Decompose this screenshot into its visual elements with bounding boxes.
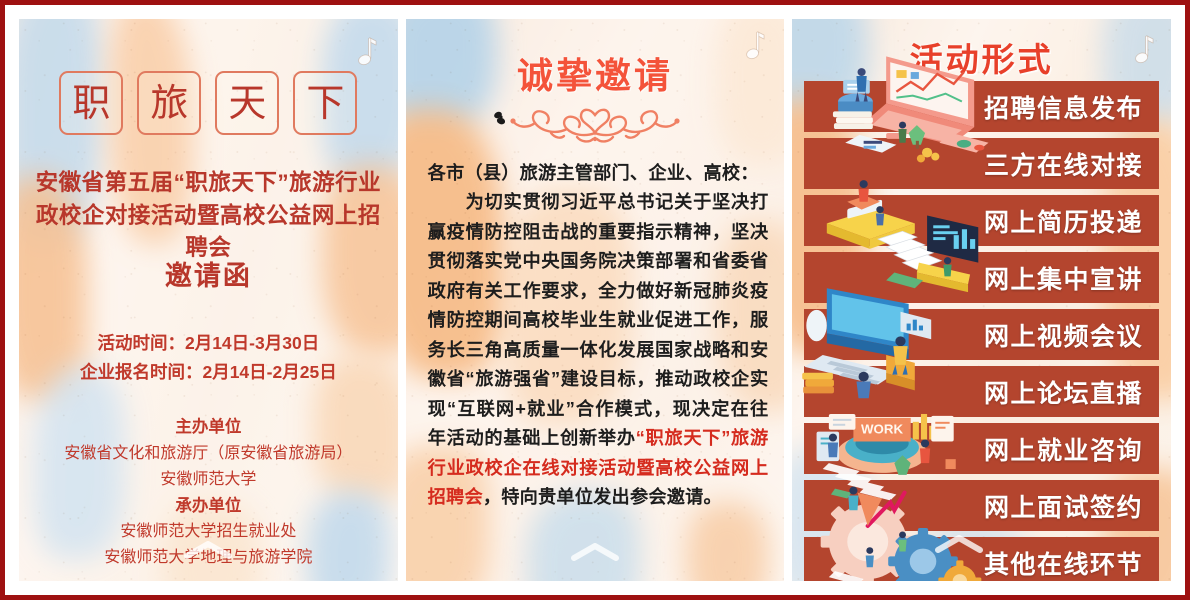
logo-char-3: 天 bbox=[215, 71, 279, 135]
letter-paragraph: 为切实贯彻习近平总书记关于坚决打赢疫情防控阻击战的重要指示精神，坚决贯彻落实党中… bbox=[428, 188, 769, 512]
activity-label-3: 网上简历投递 bbox=[984, 203, 1143, 239]
event-dates: 活动时间：2月14日-3月30日 企业报名时间：2月14日-2月25日 bbox=[19, 329, 398, 387]
music-note-icon bbox=[1129, 33, 1159, 69]
activity-label-5: 网上视频会议 bbox=[984, 317, 1143, 353]
chevron-up-icon[interactable] bbox=[181, 539, 235, 561]
poster-frame: 职 旅 天 下 安徽省第五届“职旅天下”旅游行业 政校企对接活动暨高校公益网上招… bbox=[0, 0, 1190, 600]
activity-label-2: 三方在线对接 bbox=[984, 146, 1143, 182]
list-item[interactable]: 网上就业咨询 bbox=[804, 423, 1159, 474]
list-item[interactable]: 招聘信息发布 bbox=[804, 81, 1159, 132]
list-item[interactable]: 网上简历投递 bbox=[804, 195, 1159, 246]
music-note-icon bbox=[352, 35, 382, 71]
host-item-2: 安徽师范大学 bbox=[19, 467, 398, 493]
chevron-up-icon[interactable] bbox=[568, 541, 622, 563]
section-title: 活动形式 bbox=[792, 33, 1171, 81]
host-heading: 主办单位 bbox=[19, 414, 398, 441]
activity-label-9: 其他在线环节 bbox=[984, 545, 1143, 581]
logo-char-4: 下 bbox=[293, 71, 357, 135]
letter-text-part-1: 为切实贯彻习近平总书记关于坚决打赢疫情防控阻击战的重要指示精神，坚决贯彻落实党中… bbox=[428, 192, 769, 448]
event-title: 安徽省第五届“职旅天下”旅游行业 政校企对接活动暨高校公益网上招聘会 bbox=[27, 167, 390, 265]
list-item[interactable]: 网上集中宣讲 bbox=[804, 252, 1159, 303]
host-item-1: 安徽省文化和旅游厅（原安徽省旅游局） bbox=[19, 441, 398, 467]
panel-invitation-cover[interactable]: 职 旅 天 下 安徽省第五届“职旅天下”旅游行业 政校企对接活动暨高校公益网上招… bbox=[19, 19, 398, 581]
registration-period: 企业报名时间：2月14日-2月25日 bbox=[19, 358, 398, 387]
chevron-up-icon[interactable] bbox=[932, 533, 986, 555]
list-item[interactable]: 三方在线对接 bbox=[804, 138, 1159, 189]
logo-char-1: 职 bbox=[59, 71, 123, 135]
event-title-line-1: 安徽省第五届“职旅天下”旅游行业 bbox=[27, 167, 390, 200]
brand-logo: 职 旅 天 下 bbox=[19, 71, 398, 135]
activity-format-list: 招聘信息发布 三方在线对接 网上简历投递 网上集中宣讲 网上视频会议 网上论坛直… bbox=[804, 81, 1159, 581]
letter-body: 各市（县）旅游主管部门、企业、高校： 为切实贯彻习近平总书记关于坚决打赢疫情防控… bbox=[428, 159, 769, 513]
letter-title: 诚挚邀请 bbox=[406, 47, 785, 99]
flourish-divider-icon bbox=[485, 103, 705, 145]
activity-label-7: 网上就业咨询 bbox=[984, 431, 1143, 467]
butterfly-glyph bbox=[493, 111, 506, 126]
cohost-heading: 承办单位 bbox=[19, 493, 398, 520]
event-period: 活动时间：2月14日-3月30日 bbox=[19, 329, 398, 358]
activity-label-8: 网上面试签约 bbox=[984, 488, 1143, 524]
poster-stage: 职 旅 天 下 安徽省第五届“职旅天下”旅游行业 政校企对接活动暨高校公益网上招… bbox=[19, 19, 1171, 581]
activity-label-6: 网上论坛直播 bbox=[984, 374, 1143, 410]
list-item[interactable]: 网上论坛直播 bbox=[804, 366, 1159, 417]
letter-text-part-3: ，特向贵单位发出参会邀请。 bbox=[483, 487, 722, 507]
panel-activity-formats[interactable]: 活动形式 招聘信息发布 三方在线对接 网上简历投递 网上集中宣讲 网上视频会议 … bbox=[792, 19, 1171, 581]
list-item[interactable]: 网上视频会议 bbox=[804, 309, 1159, 360]
logo-char-2: 旅 bbox=[137, 71, 201, 135]
activity-label-4: 网上集中宣讲 bbox=[984, 260, 1143, 296]
activity-label-1: 招聘信息发布 bbox=[984, 89, 1143, 125]
panel-invitation-letter[interactable]: 诚挚邀请 bbox=[406, 19, 785, 581]
list-item[interactable]: 网上面试签约 bbox=[804, 480, 1159, 531]
letter-salutation: 各市（县）旅游主管部门、企业、高校： bbox=[428, 159, 769, 188]
document-type-heading: 邀请函 bbox=[19, 254, 398, 293]
